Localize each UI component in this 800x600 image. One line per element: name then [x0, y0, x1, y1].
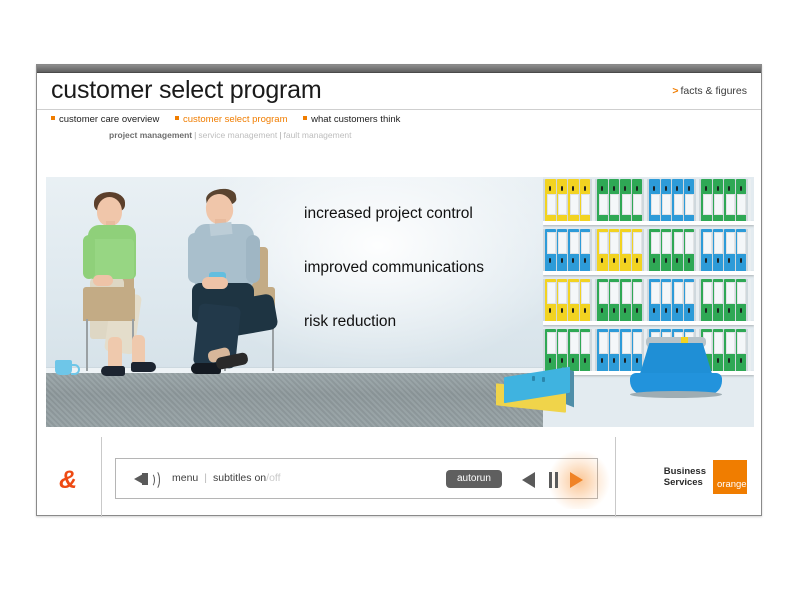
- slide-photo: increased project control improved commu…: [46, 177, 754, 427]
- ring-binder: [580, 329, 591, 371]
- ring-binder: [736, 179, 747, 221]
- subnav-item-service-management[interactable]: service management: [198, 130, 277, 140]
- menu-button[interactable]: menu: [172, 472, 198, 484]
- woman-hands: [93, 275, 113, 286]
- woman-shoe: [101, 366, 125, 376]
- ring-binder: [684, 279, 695, 321]
- brand-line-2: Services: [664, 477, 706, 488]
- ring-binder: [609, 179, 620, 221]
- man-arm: [246, 235, 260, 283]
- shelf-bay: [543, 229, 592, 271]
- ring-binder: [724, 279, 735, 321]
- nav-item-what-customers-think[interactable]: what customers think: [303, 114, 400, 125]
- ring-binder: [724, 329, 735, 371]
- speaker-icon[interactable]: [134, 469, 156, 489]
- subtitles-on-button[interactable]: on: [254, 472, 266, 484]
- facts-and-figures-link[interactable]: >facts & figures: [672, 85, 747, 97]
- ring-binder: [649, 179, 660, 221]
- autorun-button[interactable]: autorun: [446, 470, 502, 488]
- bullet-square-icon: [303, 116, 307, 120]
- facts-and-figures-label: facts & figures: [680, 85, 747, 97]
- shelf-divider: [748, 179, 751, 221]
- ring-binder: [609, 329, 620, 371]
- player-footer: & menu|subtitles on/off autorun: [37, 437, 761, 517]
- ring-binder: [701, 279, 712, 321]
- orange-logo-label: orange: [713, 479, 747, 494]
- step-stool-body: [639, 343, 713, 377]
- ring-binder: [649, 229, 660, 271]
- shelf-bay: [699, 229, 748, 271]
- footer-divider: [101, 437, 102, 517]
- ring-binder: [568, 279, 579, 321]
- ring-binder: [713, 279, 724, 321]
- ring-binder: [609, 279, 620, 321]
- shelf-bay: [543, 179, 592, 221]
- nav-item-customer-care-overview[interactable]: customer care overview: [51, 114, 159, 125]
- ring-binder: [620, 179, 631, 221]
- player-control-bar: menu|subtitles on/off autorun: [115, 458, 598, 499]
- floor-mug: [55, 360, 72, 375]
- floor-binder-hole: [542, 377, 545, 382]
- brand-line-1: Business: [664, 466, 706, 477]
- ring-binder: [713, 329, 724, 371]
- nav-item-label: what customers think: [311, 114, 400, 125]
- slide-bullet: improved communications: [304, 259, 564, 277]
- ring-binder: [545, 329, 556, 371]
- shelf-divider: [748, 229, 751, 271]
- speaker-wave: [150, 470, 160, 490]
- page-title: customer select program: [51, 74, 322, 106]
- menu-separator: |: [204, 472, 207, 484]
- woman-shoe: [131, 362, 156, 372]
- shelf-board: [543, 221, 754, 225]
- shelf-bay: [595, 229, 644, 271]
- slide-bullet: risk reduction: [304, 313, 564, 331]
- business-services-label: Business Services: [664, 466, 706, 488]
- ring-binder: [568, 229, 579, 271]
- man-hands: [202, 277, 228, 289]
- ring-binder: [545, 179, 556, 221]
- bullet-square-icon: [175, 116, 179, 120]
- ring-binder: [736, 279, 747, 321]
- shelf-divider: [748, 329, 751, 371]
- ring-binder: [672, 279, 683, 321]
- ring-binder: [632, 279, 643, 321]
- ring-binder: [620, 279, 631, 321]
- chevron-right-icon: >: [672, 85, 678, 97]
- play-icon: [570, 472, 583, 488]
- pause-icon-bar: [549, 472, 552, 488]
- window-titlebar: [37, 65, 761, 73]
- ring-binder: [620, 329, 631, 371]
- nav-item-label: customer care overview: [59, 114, 159, 125]
- ring-binder: [580, 179, 591, 221]
- man-collar: [209, 222, 232, 236]
- ring-binder: [557, 279, 568, 321]
- presentation-window: customer select program >facts & figures…: [36, 64, 762, 516]
- ring-binder: [713, 179, 724, 221]
- ring-binder: [568, 329, 579, 371]
- chair-leg: [86, 319, 88, 371]
- slide-bullet-list: increased project control improved commu…: [304, 205, 564, 331]
- ring-binder: [620, 229, 631, 271]
- footer-divider: [615, 437, 616, 517]
- previous-button[interactable]: [520, 470, 540, 490]
- shelf-divider: [748, 279, 751, 321]
- ring-binder: [632, 229, 643, 271]
- shelf-bay: [647, 229, 696, 271]
- shelf-bay: [595, 179, 644, 221]
- ring-binder: [736, 329, 747, 371]
- ring-binder: [736, 229, 747, 271]
- nav-item-customer-select-program[interactable]: customer select program: [175, 114, 288, 125]
- photo-shelving: [543, 177, 754, 427]
- chair-seat: [83, 287, 135, 321]
- shelf-bay: [595, 329, 644, 371]
- ring-binder: [672, 229, 683, 271]
- shelf-bay: [543, 279, 592, 321]
- ring-binder: [632, 179, 643, 221]
- screenshot-canvas: customer select program >facts & figures…: [0, 0, 800, 600]
- ring-binder: [557, 229, 568, 271]
- ring-binder: [724, 229, 735, 271]
- ring-binder: [597, 279, 608, 321]
- shelf-bay: [595, 279, 644, 321]
- ring-binder: [597, 229, 608, 271]
- ring-binder: [661, 229, 672, 271]
- woman-arm: [83, 235, 95, 279]
- ring-binder: [701, 229, 712, 271]
- navigation-bar: customer care overview customer select p…: [37, 111, 761, 150]
- ring-binder: [557, 329, 568, 371]
- ring-binder: [701, 179, 712, 221]
- woman-torso-shade: [90, 239, 134, 279]
- secondary-nav: project management|service management|fa…: [109, 130, 352, 140]
- primary-nav: customer care overview customer select p…: [51, 114, 413, 125]
- step-stool-ring: [630, 391, 722, 398]
- ring-binder: [580, 229, 591, 271]
- ring-binder: [545, 229, 556, 271]
- ring-binder: [632, 329, 643, 371]
- shelf-board: [543, 271, 754, 275]
- ring-binder: [724, 179, 735, 221]
- orange-logo: orange: [713, 460, 747, 494]
- ring-binder: [557, 179, 568, 221]
- ring-binder: [661, 179, 672, 221]
- subnav-item-project-management[interactable]: project management: [109, 130, 192, 140]
- shelf-bay: [699, 279, 748, 321]
- ring-binder: [597, 179, 608, 221]
- pause-icon-bar: [555, 472, 558, 488]
- subnav-item-fault-management[interactable]: fault management: [283, 130, 351, 140]
- shelf-bay: [647, 279, 696, 321]
- ring-binder: [672, 179, 683, 221]
- shelf-bay: [699, 179, 748, 221]
- ring-binder: [545, 279, 556, 321]
- ring-binder: [649, 279, 660, 321]
- man-arm: [188, 233, 202, 283]
- subtitles-label: subtitles: [213, 472, 252, 484]
- nav-item-label: customer select program: [183, 114, 288, 125]
- ring-binder: [713, 229, 724, 271]
- ring-binder: [684, 179, 695, 221]
- slide-bullet: increased project control: [304, 205, 564, 223]
- ring-binder: [568, 179, 579, 221]
- subnav-separator: |: [279, 130, 281, 140]
- ring-binder: [684, 229, 695, 271]
- bullet-square-icon: [51, 116, 55, 120]
- pause-button[interactable]: [544, 470, 564, 490]
- ring-binder: [609, 229, 620, 271]
- ampersand-logo-icon: &: [51, 465, 85, 495]
- shelf-bay: [647, 179, 696, 221]
- floor-binder-hole: [532, 376, 535, 381]
- subnav-separator: |: [194, 130, 196, 140]
- ring-binder: [661, 279, 672, 321]
- menu-and-subtitles: menu|subtitles on/off: [172, 472, 281, 484]
- ring-binder: [580, 279, 591, 321]
- play-next-button[interactable]: [566, 470, 586, 490]
- brand-lockup: Business Services orange: [664, 459, 747, 495]
- previous-icon: [522, 472, 535, 488]
- subtitles-off-button[interactable]: off: [269, 472, 280, 484]
- slide-header: customer select program >facts & figures: [37, 73, 761, 110]
- ring-binder: [597, 329, 608, 371]
- shelf-bay: [543, 329, 592, 371]
- shelf-board: [543, 321, 754, 325]
